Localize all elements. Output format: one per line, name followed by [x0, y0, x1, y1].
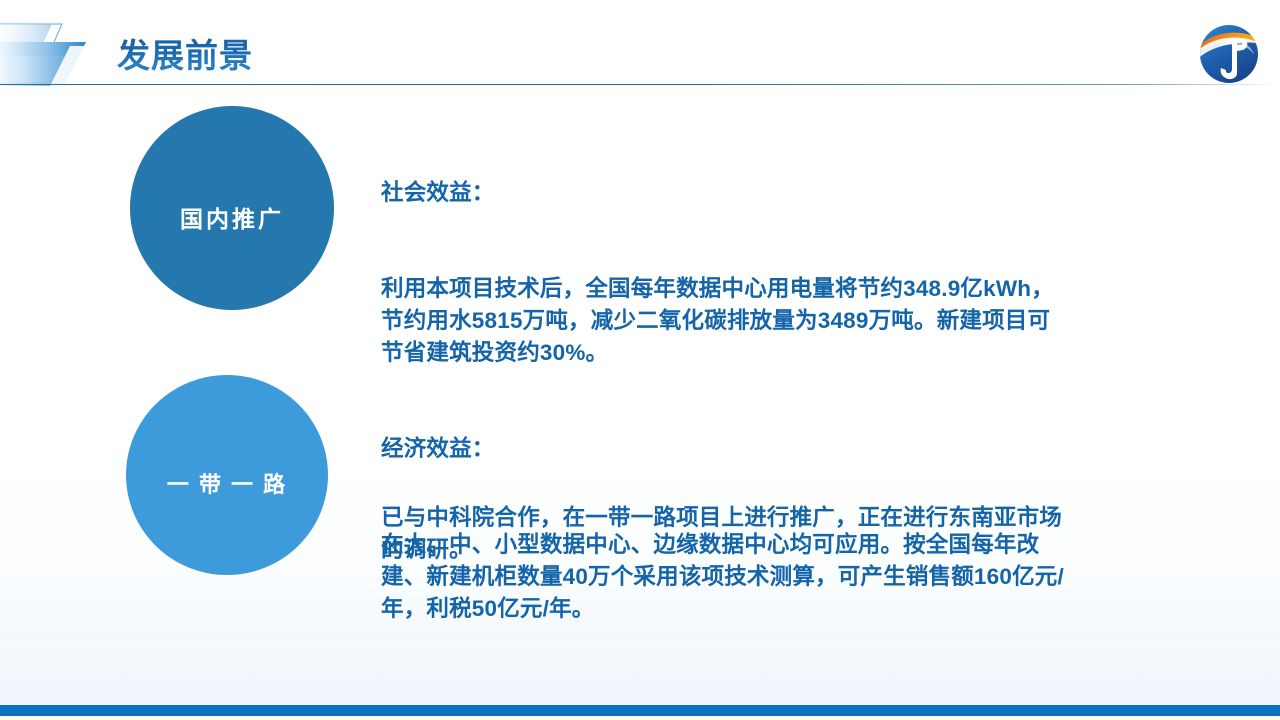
page-title: 发展前景 [117, 36, 253, 76]
topic-circle-belt-and-road: 一 带 一 路 [126, 375, 328, 575]
jp-circular-logo-icon [1196, 21, 1262, 87]
topic-circle-label: 一 带 一 路 [167, 467, 287, 499]
footer-accent-bar [0, 705, 1280, 716]
text-line: 已与中科院合作，在一带一路项目上进行推广，正在进行东南亚市场的调研。 [381, 502, 1071, 566]
text-line: 利用本项目技术后，全国每年数据中心用电量将节约348.9亿kWh，节约用水581… [381, 273, 1071, 369]
slide-header: 发展前景 [0, 0, 1280, 86]
slide-root: 发展前景 [0, 0, 1280, 720]
header-divider [0, 84, 1280, 85]
content-text-block-belt-and-road: 已与中科院合作，在一带一路项目上进行推广，正在进行东南亚市场的调研。 [381, 438, 1071, 630]
topic-circle-label: 国内推广 [180, 200, 284, 234]
topic-circle-domestic-promotion: 国内推广 [130, 106, 334, 310]
footer-bottom-margin [0, 716, 1280, 720]
text-line: 社会效益： [381, 177, 1071, 209]
